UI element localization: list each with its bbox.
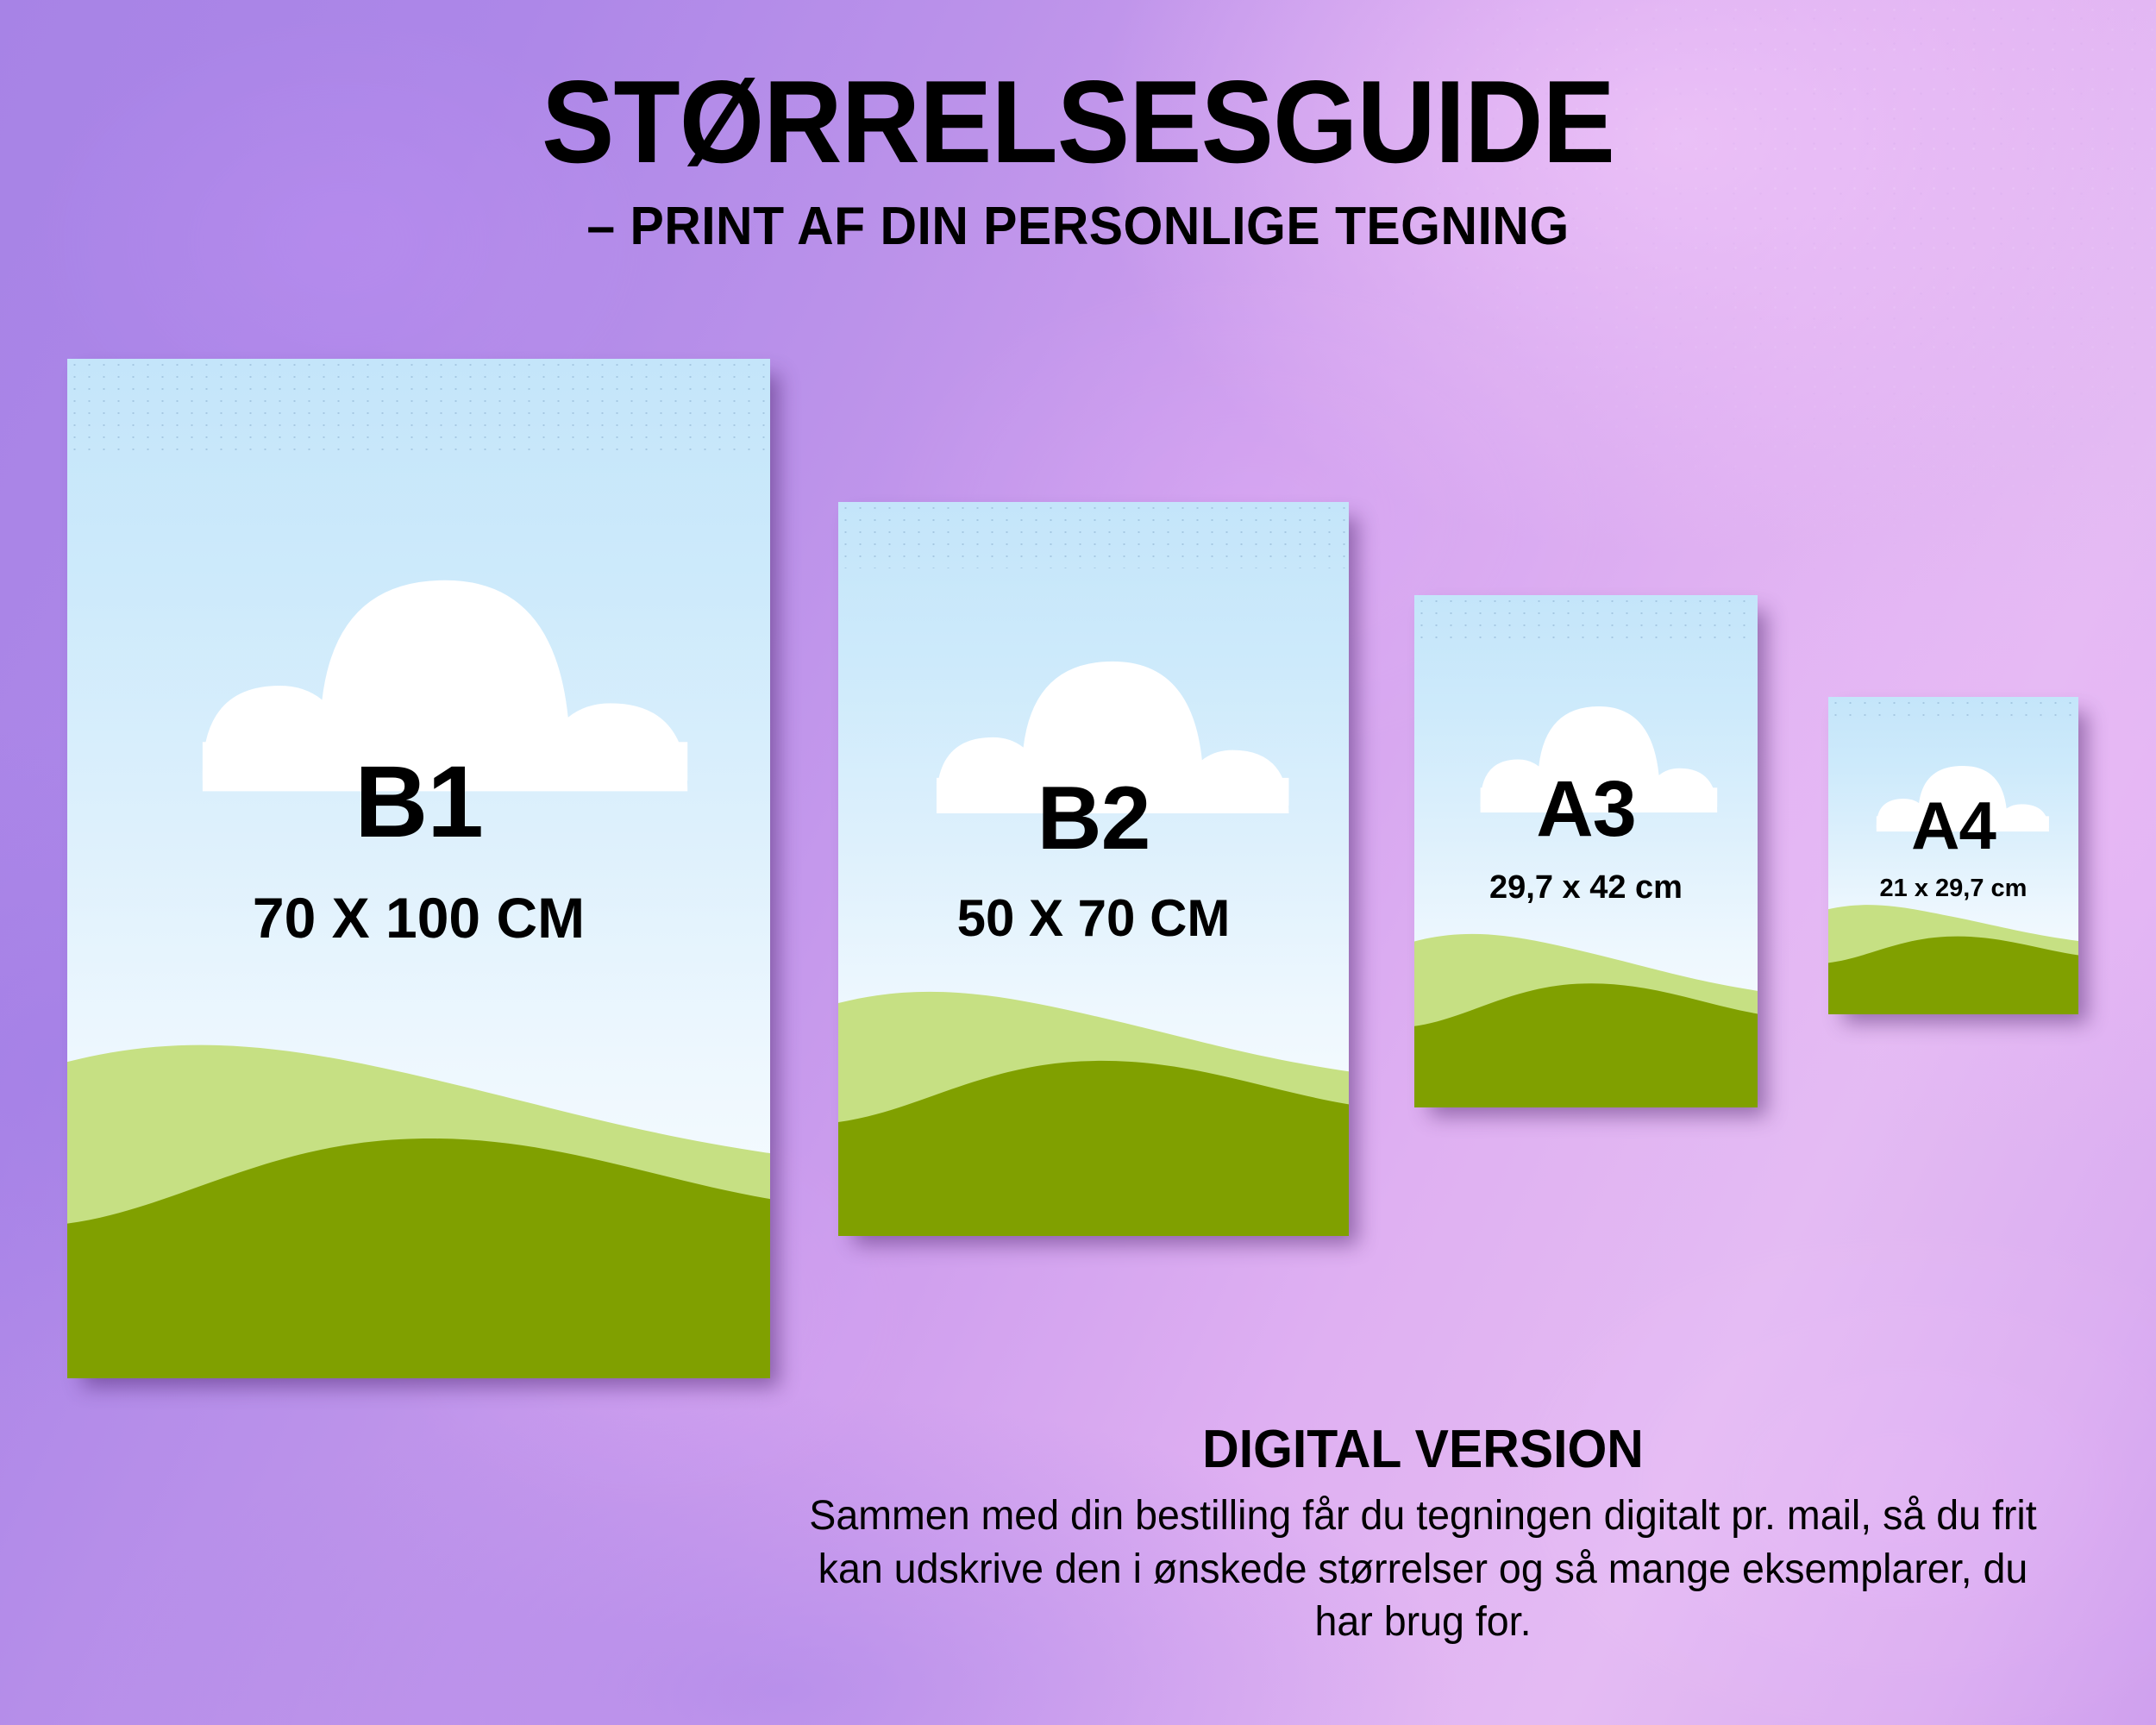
sky-speckle-b2 [838, 502, 1349, 568]
footer-description: Sammen med din bestilling får du tegning… [787, 1490, 2059, 1648]
poster-label-b2: B2 50 X 70 CM [838, 774, 1349, 944]
poster-preview-a4[interactable]: A4 21 x 29,7 cm [1828, 697, 2078, 1014]
poster-preview-a3[interactable]: A3 29,7 x 42 cm [1414, 595, 1758, 1107]
poster-preview-b1[interactable]: B1 70 X 100 CM [67, 359, 770, 1378]
poster-size-code: B2 [838, 774, 1349, 863]
sky-speckle-b1 [67, 359, 770, 450]
poster-size-dimensions: 21 x 29,7 cm [1828, 876, 2078, 901]
poster-size-dimensions: 29,7 x 42 cm [1414, 871, 1758, 904]
size-guide-poster: STØRRELSESGUIDE – PRINT AF DIN PERSONLIG… [0, 0, 2156, 1725]
poster-label-a3: A3 29,7 x 42 cm [1414, 769, 1758, 904]
poster-size-code: B1 [67, 751, 770, 853]
header: STØRRELSESGUIDE – PRINT AF DIN PERSONLIG… [0, 62, 2156, 256]
footer-title: DIGITAL VERSION [743, 1421, 2103, 1477]
poster-size-dimensions: 70 X 100 CM [67, 889, 770, 946]
page-subtitle: – PRINT AF DIN PERSONLIGE TEGNING [54, 198, 2103, 256]
poster-label-a4: A4 21 x 29,7 cm [1828, 792, 2078, 901]
poster-size-code: A3 [1414, 769, 1758, 849]
footer: DIGITAL VERSION Sammen med din bestillin… [707, 1421, 2139, 1648]
sky-speckle-a4 [1828, 697, 2078, 725]
page-title: STØRRELSESGUIDE [76, 62, 2081, 182]
poster-label-b1: B1 70 X 100 CM [67, 751, 770, 946]
poster-size-dimensions: 50 X 70 CM [838, 893, 1349, 944]
sky-speckle-a3 [1414, 595, 1758, 641]
poster-size-code: A4 [1828, 792, 2078, 859]
poster-preview-b2[interactable]: B2 50 X 70 CM [838, 502, 1349, 1236]
